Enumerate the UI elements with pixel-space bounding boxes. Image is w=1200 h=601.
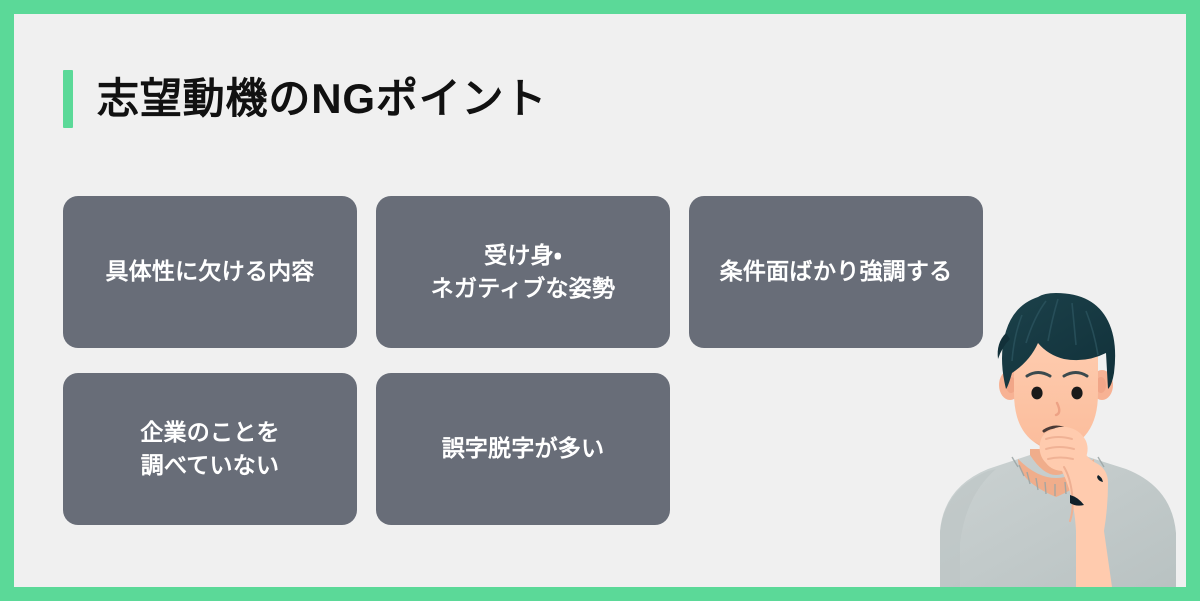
ng-point-card-4[interactable]: 企業のことを 調べていない: [63, 373, 357, 525]
title-text: 志望動機のNGポイント: [97, 78, 547, 120]
card-label: 企業のことを 調べていない: [140, 416, 279, 483]
title-accent-bar: [63, 70, 73, 128]
slide-canvas: 志望動機のNGポイント 具体性に欠ける内容 受け身・ ネガティブな姿勢 条件面ば…: [0, 0, 1200, 601]
ng-point-card-1[interactable]: 具体性に欠ける内容: [63, 196, 357, 348]
card-label: 条件面ばかり強調する: [720, 255, 953, 288]
ng-point-card-grid: 具体性に欠ける内容 受け身・ ネガティブな姿勢 条件面ばかり強調する 企業のこと…: [63, 196, 988, 525]
card-label: 受け身・ ネガティブな姿勢: [431, 239, 615, 306]
ng-point-card-2[interactable]: 受け身・ ネガティブな姿勢: [376, 196, 670, 348]
card-label: 具体性に欠ける内容: [105, 255, 314, 288]
slide-content-area: 志望動機のNGポイント 具体性に欠ける内容 受け身・ ネガティブな姿勢 条件面ば…: [14, 14, 1186, 587]
page-title: 志望動機のNGポイント: [63, 68, 547, 130]
ng-point-card-5[interactable]: 誤字脱字が多い: [376, 373, 670, 525]
card-label: 誤字脱字が多い: [442, 432, 605, 465]
ng-point-card-3[interactable]: 条件面ばかり強調する: [689, 196, 983, 348]
